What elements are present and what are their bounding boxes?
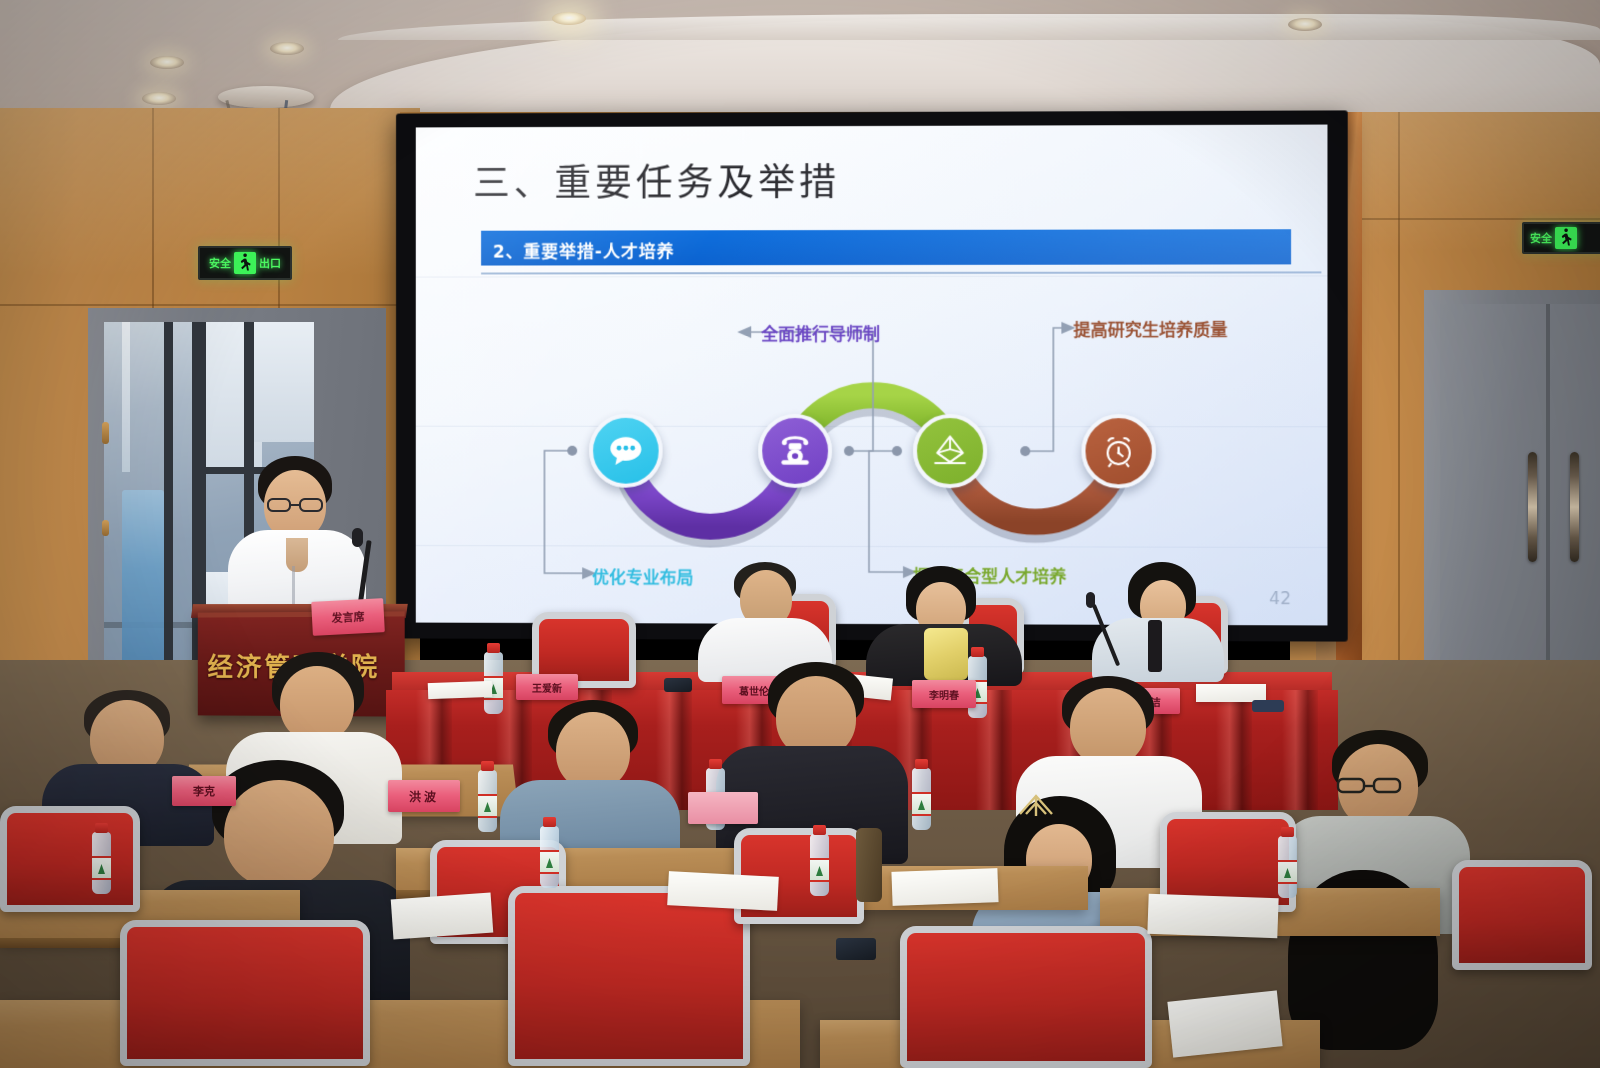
ceiling-speaker-disc: [218, 86, 314, 108]
node-telephone: [758, 414, 832, 488]
water-bottle: [92, 832, 111, 894]
door-left-handle[interactable]: [102, 520, 109, 536]
water-bottle-stack: [122, 490, 164, 686]
head-table-microphone-head: [1086, 592, 1095, 608]
door-right-seam: [1546, 304, 1550, 720]
panelist-1: [698, 562, 832, 678]
soffit-edge: [338, 14, 1600, 40]
podium-microphone-head: [352, 528, 363, 547]
audience-chair[interactable]: [508, 886, 750, 1066]
door-right-handle-left[interactable]: [1528, 452, 1537, 562]
exit-sign-right-text-1: 安全: [1530, 230, 1552, 246]
panelist-3: [1092, 562, 1224, 682]
hair-clip-icon: [1016, 792, 1058, 818]
audience-chair[interactable]: [120, 920, 370, 1066]
thermos-bottle: [856, 828, 882, 902]
smartphone[interactable]: [836, 938, 876, 960]
water-bottle: [810, 834, 829, 896]
exit-sign-left-text-2: 出口: [259, 255, 281, 271]
speaker-placard-text: 发言席: [331, 608, 365, 626]
head-table-namecard-text: 李明春: [929, 687, 959, 702]
slide-section-label: 2、重要举措-人才培养: [493, 237, 674, 262]
head-table-namecard-text: 王爱新: [532, 680, 562, 695]
exit-sign-left-text-1: 安全: [209, 255, 231, 271]
eyeglasses-icon: [266, 496, 324, 512]
document-paper: [428, 681, 493, 699]
alarm-clock-icon: [1097, 429, 1141, 473]
running-man-icon: [234, 252, 256, 274]
label-top-left: 全面推行导师制: [761, 320, 880, 345]
exit-sign-right: 安全: [1522, 222, 1600, 254]
document-paper: [1167, 990, 1282, 1057]
exit-sign-left: 安全 出口: [198, 246, 292, 280]
water-bottle: [912, 768, 931, 830]
audience-namecard: 李克: [172, 776, 236, 806]
ceiling-downlight: [552, 12, 586, 25]
audience-namecard-text: 李克: [193, 783, 215, 799]
telephone-icon: [773, 429, 817, 473]
document-paper: [667, 871, 779, 911]
running-man-icon: [1555, 227, 1577, 249]
slide-section-bar: 2、重要举措-人才培养: [481, 229, 1291, 265]
envelope-icon: [928, 429, 972, 473]
audience-namecard-text: 洪波: [409, 788, 439, 805]
node-chat-bubble: [589, 414, 663, 488]
ceiling-downlight: [150, 56, 184, 69]
ceiling-downlight: [270, 42, 304, 55]
node-envelope: [913, 414, 987, 488]
audience-namecard: [688, 792, 758, 824]
node-alarm-clock: [1081, 414, 1155, 488]
document-paper: [891, 868, 998, 906]
water-bottle: [478, 770, 497, 832]
label-bottom-left: 优化专业布局: [592, 563, 693, 588]
slide-bar-underline: [481, 271, 1321, 274]
eyeglasses-icon: [1336, 776, 1402, 794]
door-left-lock[interactable]: [102, 422, 109, 444]
speaker-placard: 发言席: [311, 598, 385, 636]
smartphone[interactable]: [1252, 700, 1284, 712]
water-bottle: [1278, 836, 1297, 898]
label-top-right: 提高研究生培养质量: [1073, 316, 1227, 341]
audience-chair[interactable]: [0, 806, 140, 912]
document-paper: [391, 893, 494, 940]
head-table-namecard: 王爱新: [516, 674, 578, 700]
door-right-handle-right[interactable]: [1570, 452, 1579, 562]
chat-bubble-icon: [604, 429, 648, 473]
audience-chair[interactable]: [1452, 860, 1592, 970]
ceiling-downlight: [1288, 18, 1322, 31]
slide-title: 三、重要任务及举措: [473, 152, 840, 207]
audience-namecard: 洪波: [388, 780, 460, 812]
conference-room-photo: 三、重要任务及举措 2、重要举措-人才培养: [0, 0, 1600, 1068]
water-bottle: [540, 826, 559, 888]
smartphone[interactable]: [664, 678, 692, 692]
audience-chair[interactable]: [900, 926, 1152, 1068]
document-paper: [1147, 894, 1278, 939]
projected-slide: 三、重要任务及举措 2、重要举措-人才培养: [416, 125, 1328, 626]
ceiling-downlight: [142, 92, 176, 105]
head-table-namecard: 李明春: [912, 680, 976, 708]
